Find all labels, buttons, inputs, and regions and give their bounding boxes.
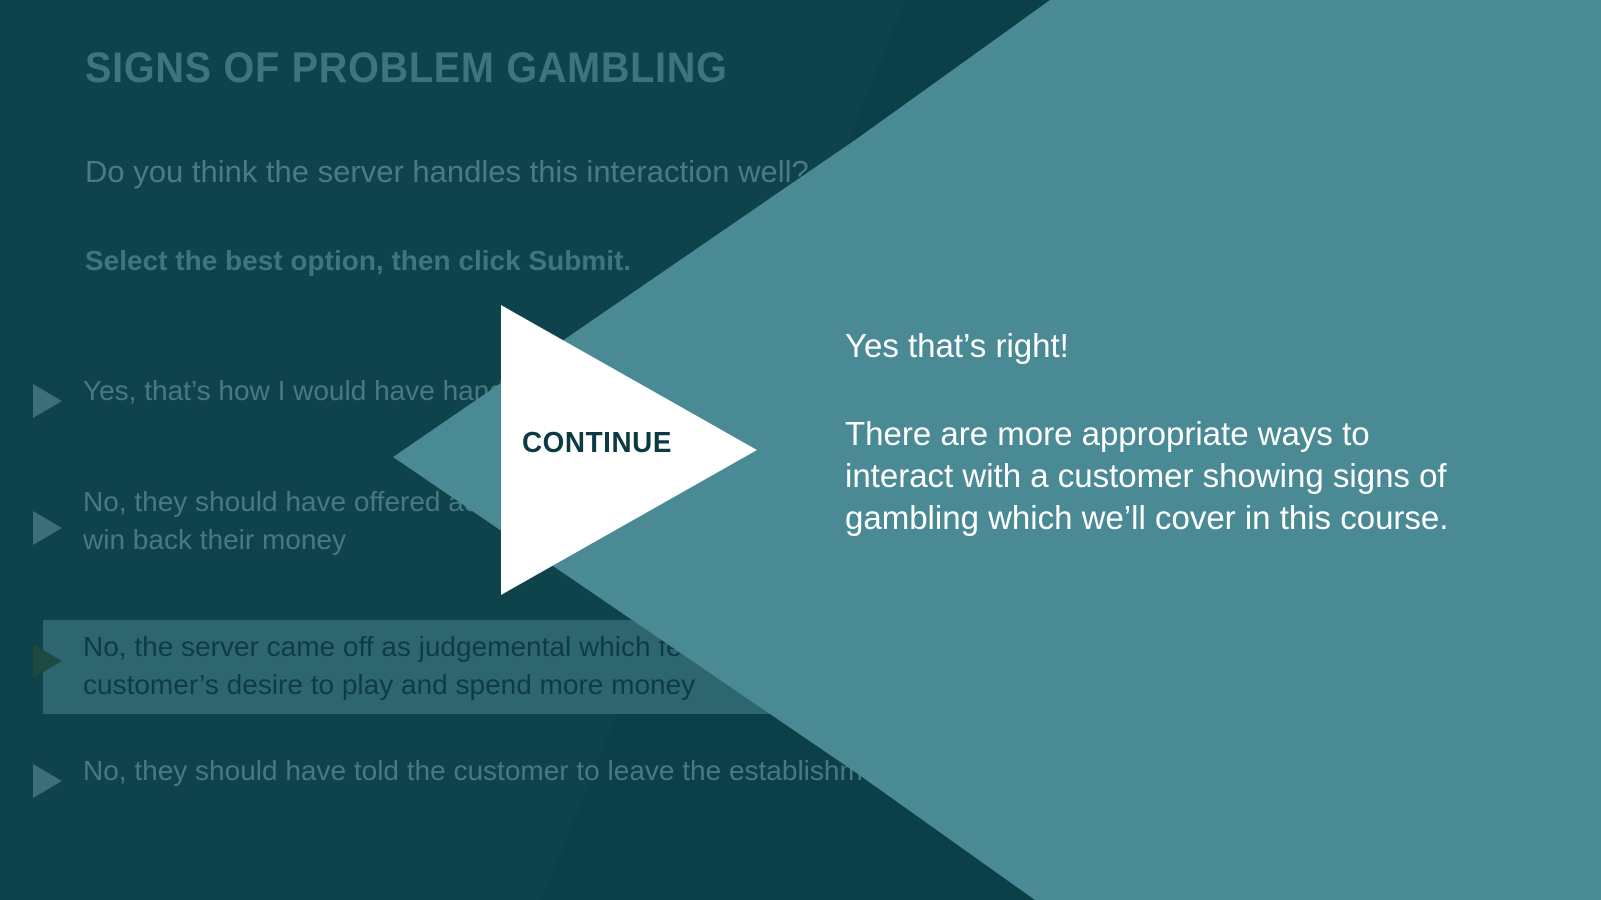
quiz-instruction: Select the best option, then click Submi… (85, 245, 631, 277)
feedback-heading: Yes that’s right! (845, 325, 1535, 367)
triangle-right-icon (33, 764, 62, 798)
quiz-option-1-label: Yes, that’s how I would have handled it (83, 372, 564, 410)
triangle-right-icon (33, 384, 62, 418)
feedback-text-block: Yes that’s right! There are more appropr… (845, 325, 1535, 539)
quiz-option-4-label: No, they should have told the customer t… (83, 752, 902, 790)
quiz-option-3-label: No, the server came off as judgemental w… (83, 628, 744, 704)
page-title: SIGNS OF PROBLEM GAMBLING (85, 44, 728, 93)
triangle-right-icon (33, 511, 62, 545)
quiz-option-3[interactable]: No, the server came off as judgemental w… (0, 620, 1300, 714)
feedback-body: There are more appropriate ways to inter… (845, 413, 1535, 539)
quiz-option-4[interactable]: No, they should have told the customer t… (0, 752, 1300, 812)
quiz-question: Do you think the server handles this int… (85, 154, 809, 190)
quiz-slide-stage: SIGNS OF PROBLEM GAMBLING Do you think t… (0, 0, 1601, 900)
triangle-right-icon (33, 644, 62, 678)
continue-button[interactable]: CONTINUE (501, 305, 757, 595)
continue-button-label: CONTINUE (514, 427, 679, 460)
